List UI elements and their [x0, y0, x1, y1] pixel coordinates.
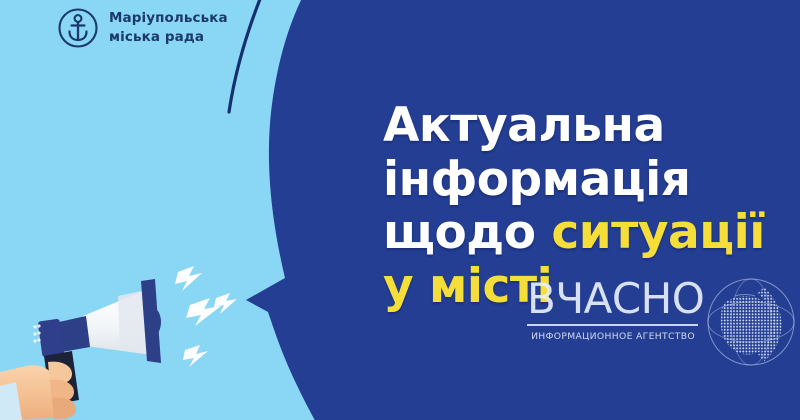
watermark-tagline: ИНФОРМАЦИОННОЕ АГЕНТСТВО [527, 331, 699, 342]
megaphone-rim-bulge [145, 308, 161, 336]
headline-line-3-white: щодо [383, 205, 551, 260]
city-council-logo: Маріупольська міська рада [56, 6, 228, 50]
dotted-globe-icon [705, 276, 797, 368]
headline-line-3: щодо ситуації [383, 206, 765, 260]
watermark-wordmark: ВЧАСНО ИНФОРМАЦИОННОЕ АГЕНТСТВО [527, 278, 699, 342]
logo-text: Маріупольська міська рада [109, 9, 228, 47]
anchor-in-circle-icon [56, 6, 100, 50]
megaphone-backplate [59, 316, 90, 352]
headline-line-3-highlight: ситуації [551, 205, 764, 260]
watermark-brand: ВЧАСНО [527, 278, 699, 320]
watermark-divider [527, 324, 698, 326]
agency-watermark: ВЧАСНО ИНФОРМАЦИОННОЕ АГЕНТСТВО [527, 276, 795, 376]
announcement-poster: Маріупольська міська рада Актуальна інфо… [0, 0, 800, 420]
headline-line-1: Актуальна [383, 99, 765, 153]
headline-line-2: інформація [383, 153, 765, 207]
logo-text-line-2: міська рада [109, 28, 228, 47]
logo-text-line-1: Маріупольська [109, 9, 228, 28]
